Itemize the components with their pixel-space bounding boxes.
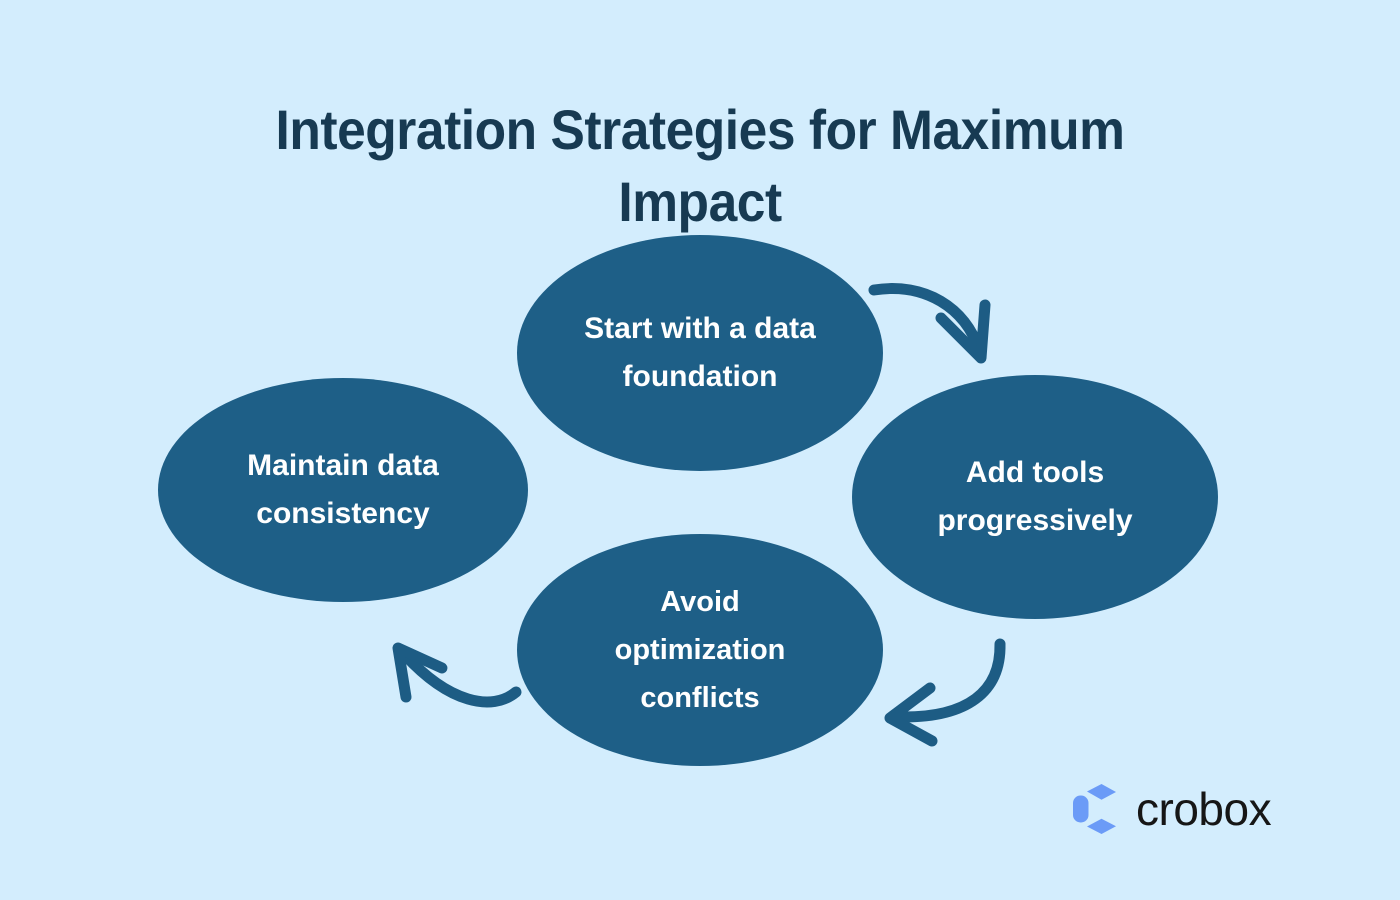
arrow-top-to-right xyxy=(874,289,985,358)
cycle-node-label: Start with a data foundation xyxy=(566,305,834,401)
cycle-node-maintain-data-consistency[interactable]: Maintain data consistency xyxy=(158,378,528,602)
slide-canvas: Integration Strategies for Maximum Impac… xyxy=(0,0,1400,900)
cycle-node-start-data-foundation[interactable]: Start with a data foundation xyxy=(517,235,883,471)
cycle-node-avoid-optimization-conflicts[interactable]: Avoid optimization conflicts xyxy=(517,534,883,766)
crobox-logo-mark-icon xyxy=(1066,781,1122,837)
cycle-node-add-tools-progressively[interactable]: Add tools progressively xyxy=(852,375,1218,619)
crobox-wordmark: crobox xyxy=(1136,786,1271,832)
cycle-node-label: Maintain data consistency xyxy=(229,442,457,538)
arrow-right-to-bottom xyxy=(890,644,1000,741)
arrow-bottom-to-left xyxy=(398,648,516,702)
cycle-diagram: Start with a data foundation Add tools p… xyxy=(0,0,1400,900)
crobox-logo: crobox xyxy=(1066,778,1278,840)
cycle-node-label: Avoid optimization conflicts xyxy=(597,578,804,722)
cycle-node-label: Add tools progressively xyxy=(919,449,1150,545)
